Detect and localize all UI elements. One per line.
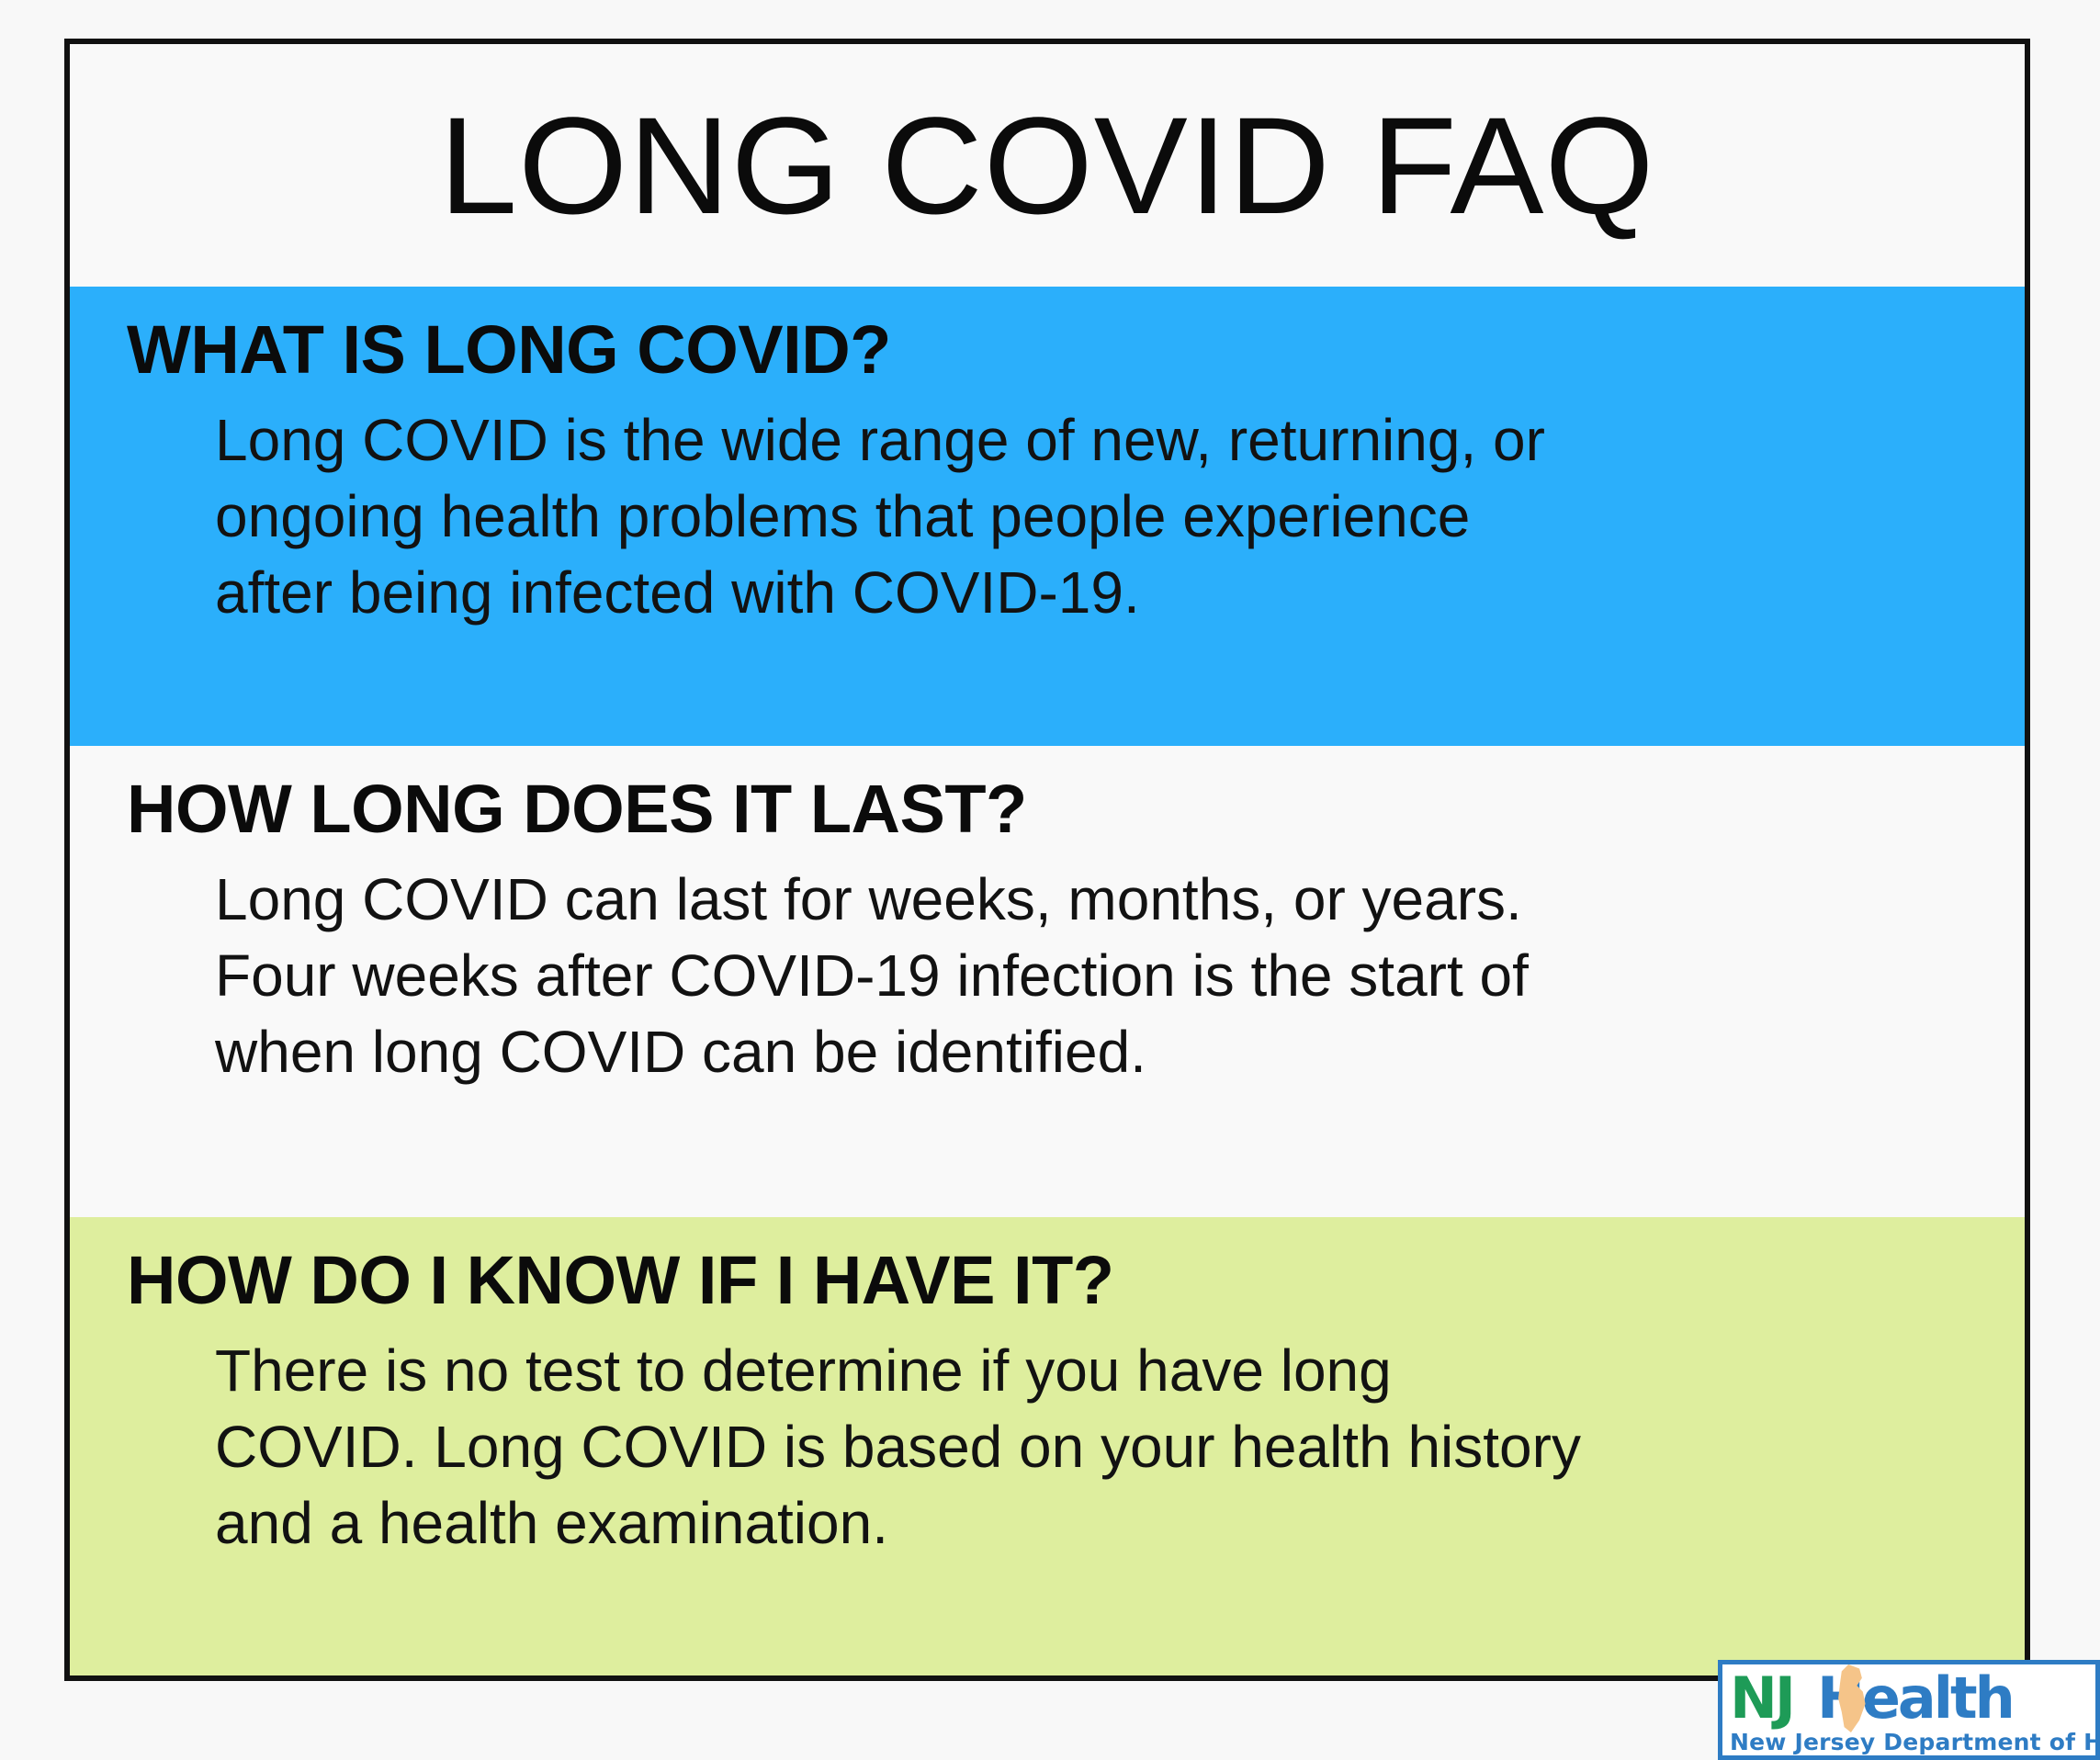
answer-line: ongoing health problems that people expe… xyxy=(215,479,1942,555)
faq-question-what-is-long-covid: WHAT IS LONG COVID? xyxy=(127,314,1968,386)
answer-line: Long COVID is the wide range of new, ret… xyxy=(215,402,1942,479)
title-band: LONG COVID FAQ xyxy=(70,44,2025,287)
answer-line: COVID. Long COVID is based on your healt… xyxy=(215,1409,1942,1485)
faq-section-how-long-does-it-last: HOW LONG DOES IT LAST? Long COVID can la… xyxy=(70,746,2025,1217)
nj-health-wordmark: NJHealth xyxy=(1730,1668,2088,1729)
faq-question-how-long-does-it-last: HOW LONG DOES IT LAST? xyxy=(127,773,1968,845)
faq-card: LONG COVID FAQ WHAT IS LONG COVID? Long … xyxy=(64,39,2030,1681)
page-title: LONG COVID FAQ xyxy=(439,96,1655,234)
answer-line: Long COVID can last for weeks, months, o… xyxy=(215,862,1942,938)
answer-line: when long COVID can be identified. xyxy=(215,1014,1942,1090)
faq-question-how-do-i-know-if-i-have-it: HOW DO I KNOW IF I HAVE IT? xyxy=(127,1245,1968,1316)
nj-health-subtitle: New Jersey Department of Health xyxy=(1730,1731,2088,1754)
answer-line: There is no test to determine if you hav… xyxy=(215,1333,1942,1409)
nj-health-logo: NJHealth New Jersey Department of Health xyxy=(1718,1660,2100,1760)
faq-answer-how-do-i-know-if-i-have-it: There is no test to determine if you hav… xyxy=(127,1333,1942,1563)
answer-line: after being infected with COVID-19. xyxy=(215,555,1942,631)
faq-answer-how-long-does-it-last: Long COVID can last for weeks, months, o… xyxy=(127,862,1942,1091)
faq-answer-what-is-long-covid: Long COVID is the wide range of new, ret… xyxy=(127,402,1942,632)
answer-line: Four weeks after COVID-19 infection is t… xyxy=(215,938,1942,1014)
answer-line: and a health examination. xyxy=(215,1485,1942,1562)
faq-section-what-is-long-covid: WHAT IS LONG COVID? Long COVID is the wi… xyxy=(70,287,2025,746)
nj-logo-text: NJ xyxy=(1730,1664,1793,1732)
faq-section-how-do-i-know-if-i-have-it: HOW DO I KNOW IF I HAVE IT? There is no … xyxy=(70,1217,2025,1675)
